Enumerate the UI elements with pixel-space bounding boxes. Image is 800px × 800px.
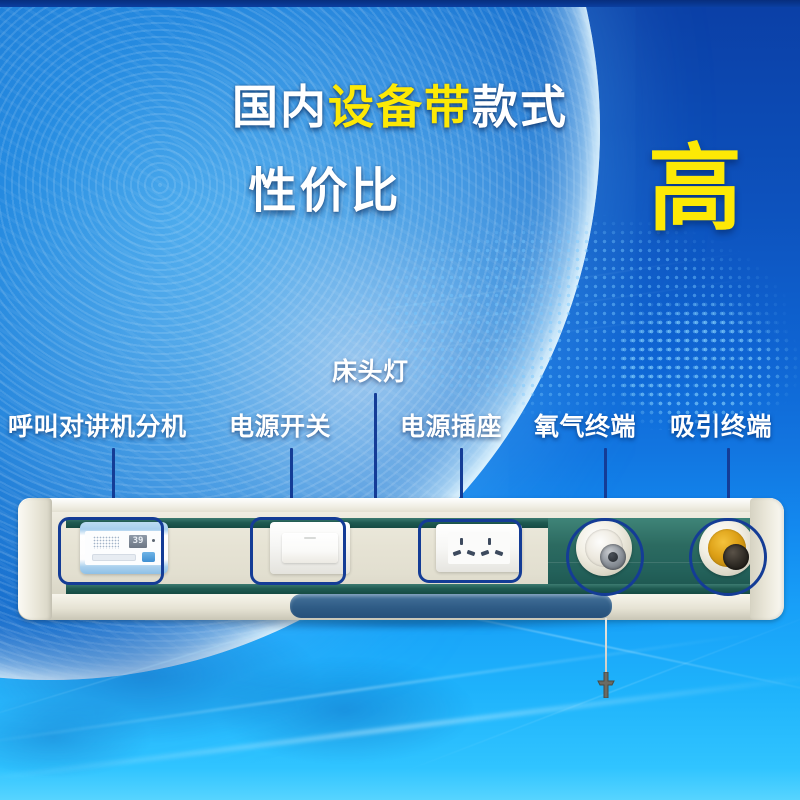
callout-label-suction: 吸引终端 <box>670 415 772 440</box>
oxygen-terminal-core <box>600 544 626 570</box>
headline-part-3: 款式 <box>472 81 568 133</box>
bed-head-unit: 39 <box>18 498 784 630</box>
callout-label-intercom: 呼叫对讲机分机 <box>8 415 187 440</box>
indicator-led-icon <box>152 539 155 542</box>
oxygen-terminal-inner <box>585 529 623 567</box>
callout-label-socket: 电源插座 <box>400 415 502 440</box>
nurse-call-intercom[interactable]: 39 <box>80 522 168 574</box>
callout-label-switch: 电源开关 <box>229 415 331 440</box>
switch-rocker[interactable] <box>282 533 338 563</box>
socket-pin-hole <box>460 538 463 545</box>
panel-end-cap-left <box>18 498 52 620</box>
speaker-grille-icon <box>93 536 119 549</box>
socket-pin-hole <box>488 538 491 545</box>
intercom-display: 39 <box>129 535 147 548</box>
promo-banner: 国内设备带款式 性价比 高 呼叫对讲机分机 电源开关 床头灯 电源插座 氧气终端… <box>0 0 800 800</box>
socket-slot <box>481 550 490 556</box>
headline-part-1: 国内 <box>232 81 328 133</box>
intercom-label-strip <box>92 554 136 561</box>
suction-terminal-inner <box>708 529 746 567</box>
callout-label-oxygen: 氧气终端 <box>534 415 636 440</box>
halftone-world-map <box>620 300 800 430</box>
socket-face <box>448 532 510 564</box>
panel-body: 39 <box>18 498 784 620</box>
socket-slot <box>467 550 476 556</box>
panel-top-bevel <box>18 498 784 512</box>
headline-part-2: 设备带 <box>328 81 472 133</box>
socket-slot <box>495 550 504 556</box>
suction-terminal[interactable] <box>699 520 755 576</box>
intercom-face: 39 <box>85 531 163 565</box>
top-edge-strip <box>0 0 800 7</box>
headline: 国内设备带款式 <box>0 84 800 130</box>
power-socket[interactable] <box>436 524 522 572</box>
panel-end-cap-right <box>750 498 784 620</box>
panel-rail-insert <box>290 594 612 618</box>
oxygen-terminal[interactable] <box>576 520 632 576</box>
panel-stripe-bottom <box>66 584 766 594</box>
power-switch[interactable] <box>270 522 350 574</box>
callout-label-bed-lamp: 床头灯 <box>332 360 409 385</box>
intercom-call-button[interactable] <box>142 552 155 562</box>
socket-slot <box>453 550 462 556</box>
emphasis-character: 高 <box>648 142 742 236</box>
pull-cord[interactable] <box>605 618 607 680</box>
pull-cord-hook-icon <box>591 672 621 698</box>
suction-terminal-core <box>723 544 749 570</box>
